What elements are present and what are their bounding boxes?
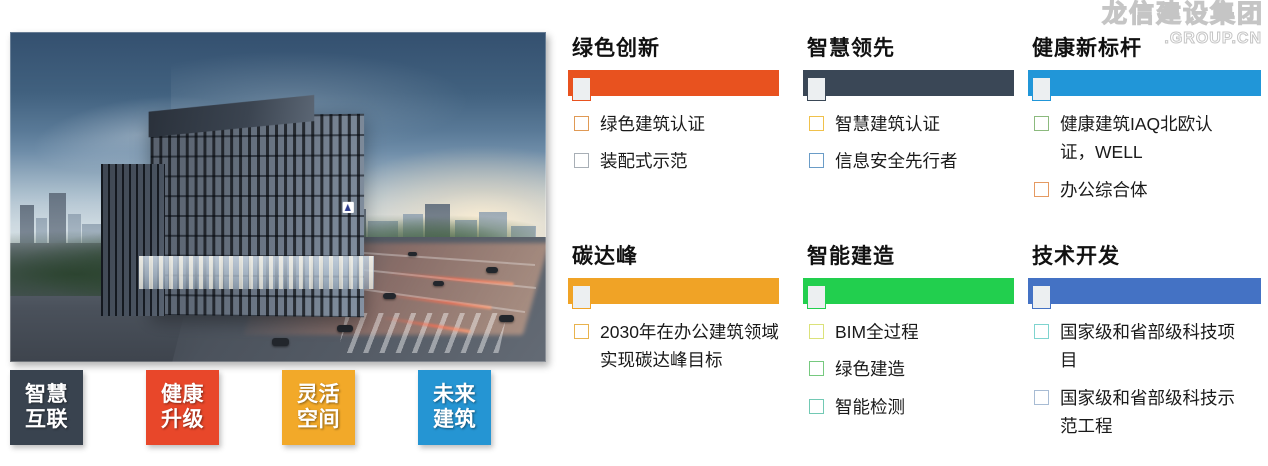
cell-item-list: 2030年在办公建筑领域实现碳达峰目标 [568, 318, 788, 375]
cell-item-list: BIM全过程 绿色建造 智能检测 [803, 318, 1023, 421]
cell-item-list: 绿色建筑认证 装配式示范 [568, 110, 788, 176]
bar-chip-icon [1032, 285, 1051, 309]
list-item-label: 2030年在办公建筑领域实现碳达峰目标 [600, 318, 785, 375]
bar-fill [568, 70, 779, 96]
list-item[interactable]: 办公综合体 [1028, 176, 1248, 204]
checkbox-icon[interactable] [1034, 324, 1049, 339]
secondary-tower-fins [101, 164, 165, 316]
feature-cell-carbon-peak: 碳达峰 2030年在办公建筑领域实现碳达峰目标 [568, 240, 788, 391]
list-item[interactable]: 绿色建造 [803, 355, 1023, 383]
list-item[interactable]: 装配式示范 [568, 147, 788, 175]
feature-cell-smart-leading: 智慧领先 智慧建筑认证 信息安全先行者 [803, 32, 1023, 192]
building-podium [139, 256, 375, 289]
checkbox-icon[interactable] [809, 361, 824, 376]
list-item-label: 国家级和省部级科技项目 [1060, 318, 1245, 375]
feature-tag[interactable]: 未来 建筑 [418, 370, 491, 445]
bar-fill [568, 278, 779, 304]
bar-fill [1028, 278, 1261, 304]
list-item[interactable]: 健康建筑IAQ北欧认证，WELL [1028, 110, 1248, 167]
car [486, 267, 498, 273]
list-item[interactable]: BIM全过程 [803, 318, 1023, 346]
feature-tag-line2: 空间 [297, 408, 340, 432]
checkbox-icon[interactable] [574, 153, 589, 168]
feature-tag-row: 智慧 互联 健康 升级 灵活 空间 未来 建筑 [10, 370, 546, 450]
cell-item-list: 国家级和省部级科技项目 国家级和省部级科技示范工程 [1028, 318, 1248, 440]
list-item[interactable]: 智能检测 [803, 393, 1023, 421]
cell-title: 技术开发 [1032, 240, 1248, 270]
checkbox-icon[interactable] [1034, 116, 1049, 131]
feature-tag-line1: 智慧 [25, 383, 68, 407]
cell-accent-bar [1028, 278, 1261, 304]
checkbox-icon[interactable] [574, 324, 589, 339]
list-item[interactable]: 国家级和省部级科技项目 [1028, 318, 1248, 375]
list-item-label: BIM全过程 [835, 318, 919, 346]
list-item[interactable]: 国家级和省部级科技示范工程 [1028, 384, 1248, 441]
checkbox-icon[interactable] [1034, 390, 1049, 405]
checkbox-icon[interactable] [1034, 182, 1049, 197]
cell-title: 智慧领先 [807, 32, 1023, 62]
cell-accent-bar [568, 70, 779, 96]
cell-title: 智能建造 [807, 240, 1023, 270]
list-item-label: 绿色建筑认证 [600, 110, 705, 138]
list-item-label: 信息安全先行者 [835, 147, 958, 175]
cell-accent-bar [1028, 70, 1261, 96]
bar-fill [803, 278, 1014, 304]
bar-fill [1028, 70, 1261, 96]
crosswalk [338, 313, 507, 353]
building-logo-icon [343, 201, 354, 212]
cell-accent-bar [803, 70, 1014, 96]
checkbox-icon[interactable] [809, 116, 824, 131]
list-item[interactable]: 2030年在办公建筑领域实现碳达峰目标 [568, 318, 788, 375]
car [433, 281, 444, 286]
feature-tag-line1: 未来 [433, 383, 476, 407]
cell-accent-bar [803, 278, 1014, 304]
list-item[interactable]: 智慧建筑认证 [803, 110, 1023, 138]
car [383, 293, 396, 299]
list-item-label: 装配式示范 [600, 147, 688, 175]
bar-chip-icon [807, 285, 826, 309]
feature-tag-line1: 灵活 [297, 383, 340, 407]
list-item-label: 国家级和省部级科技示范工程 [1060, 384, 1245, 441]
bar-chip-icon [572, 77, 591, 101]
feature-tag-line1: 健康 [161, 383, 204, 407]
list-item-label: 健康建筑IAQ北欧认证，WELL [1060, 110, 1245, 167]
feature-cell-intelligent-construction: 智能建造 BIM全过程 绿色建造 智能检测 [803, 240, 1023, 437]
feature-tag[interactable]: 健康 升级 [146, 370, 219, 445]
feature-tag-line2: 升级 [161, 408, 204, 432]
checkbox-icon[interactable] [809, 153, 824, 168]
bar-chip-icon [1032, 77, 1051, 101]
photo-canvas [10, 32, 546, 362]
cell-accent-bar [568, 278, 779, 304]
cell-item-list: 健康建筑IAQ北欧认证，WELL 办公综合体 [1028, 110, 1248, 204]
secondary-tower [101, 164, 165, 316]
feature-cell-green-innovation: 绿色创新 绿色建筑认证 装配式示范 [568, 32, 788, 192]
list-item-label: 办公综合体 [1060, 176, 1148, 204]
cell-title: 健康新标杆 [1032, 32, 1248, 62]
feature-tag[interactable]: 智慧 互联 [10, 370, 83, 445]
checkbox-icon[interactable] [809, 399, 824, 414]
bar-chip-icon [807, 77, 826, 101]
building-photo [10, 32, 546, 362]
bar-chip-icon [572, 285, 591, 309]
feature-tag-line2: 建筑 [433, 408, 476, 432]
list-item-label: 智慧建筑认证 [835, 110, 940, 138]
bar-fill [803, 70, 1014, 96]
list-item-label: 绿色建造 [835, 355, 905, 383]
checkbox-icon[interactable] [809, 324, 824, 339]
feature-cell-technology-development: 技术开发 国家级和省部级科技项目 国家级和省部级科技示范工程 [1028, 240, 1248, 456]
cell-title: 绿色创新 [572, 32, 788, 62]
checkbox-icon[interactable] [574, 116, 589, 131]
feature-tag[interactable]: 灵活 空间 [282, 370, 355, 445]
list-item-label: 智能检测 [835, 393, 905, 421]
left-panel: 智慧 互联 健康 升级 灵活 空间 未来 建筑 [0, 0, 556, 466]
feature-tag-line2: 互联 [25, 408, 68, 432]
feature-grid: 绿色创新 绿色建筑认证 装配式示范 智慧领先 智慧建筑认证 [560, 0, 1268, 466]
list-item[interactable]: 绿色建筑认证 [568, 110, 788, 138]
list-item[interactable]: 信息安全先行者 [803, 147, 1023, 175]
car [337, 325, 353, 332]
feature-cell-health-benchmark: 健康新标杆 健康建筑IAQ北欧认证，WELL 办公综合体 [1028, 32, 1248, 220]
car [272, 338, 289, 346]
cell-item-list: 智慧建筑认证 信息安全先行者 [803, 110, 1023, 176]
car [499, 315, 514, 322]
cell-title: 碳达峰 [572, 240, 788, 270]
podium-window-lights [139, 256, 375, 289]
